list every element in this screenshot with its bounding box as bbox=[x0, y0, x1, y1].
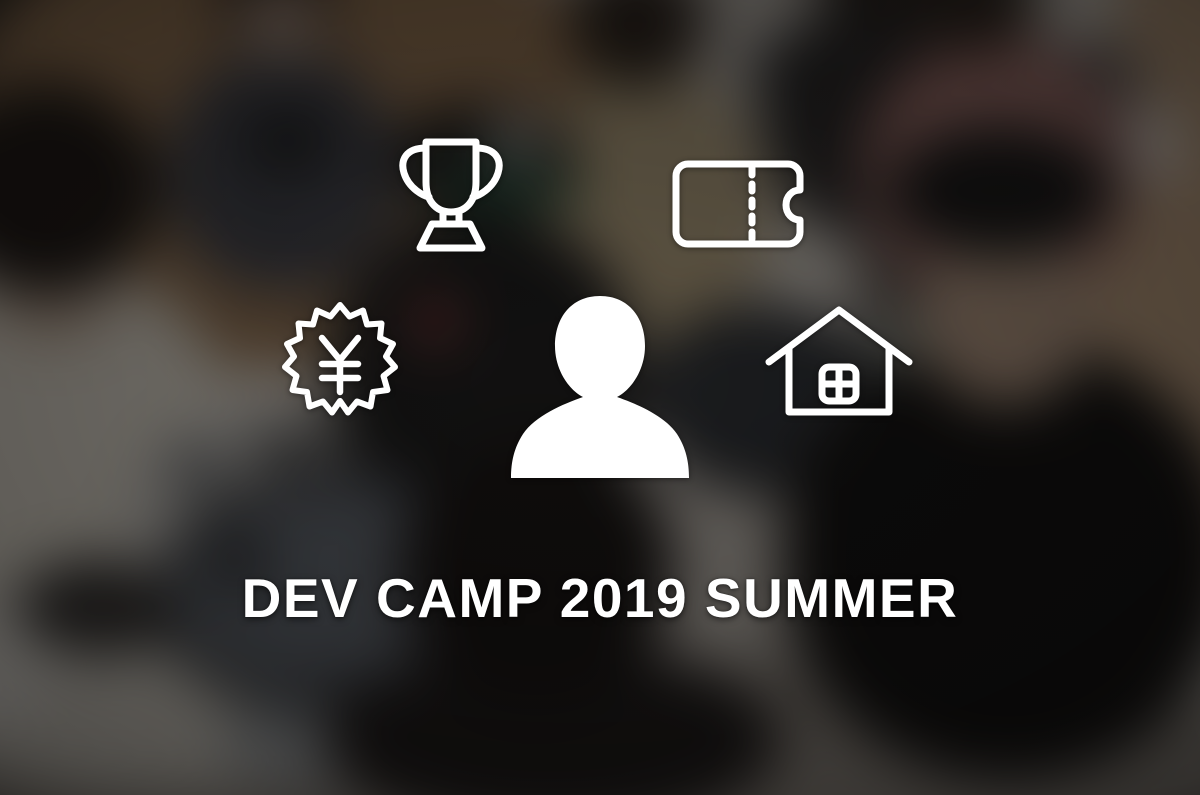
house-icon bbox=[764, 305, 914, 417]
trophy-icon bbox=[392, 130, 510, 260]
hero-banner: DEV CAMP 2019 SUMMER bbox=[0, 0, 1200, 795]
hero-content: DEV CAMP 2019 SUMMER bbox=[0, 0, 1200, 795]
yen-badge-icon bbox=[282, 300, 398, 416]
ticket-icon bbox=[672, 160, 804, 248]
page-title: DEV CAMP 2019 SUMMER bbox=[0, 571, 1200, 626]
person-icon bbox=[505, 292, 695, 482]
